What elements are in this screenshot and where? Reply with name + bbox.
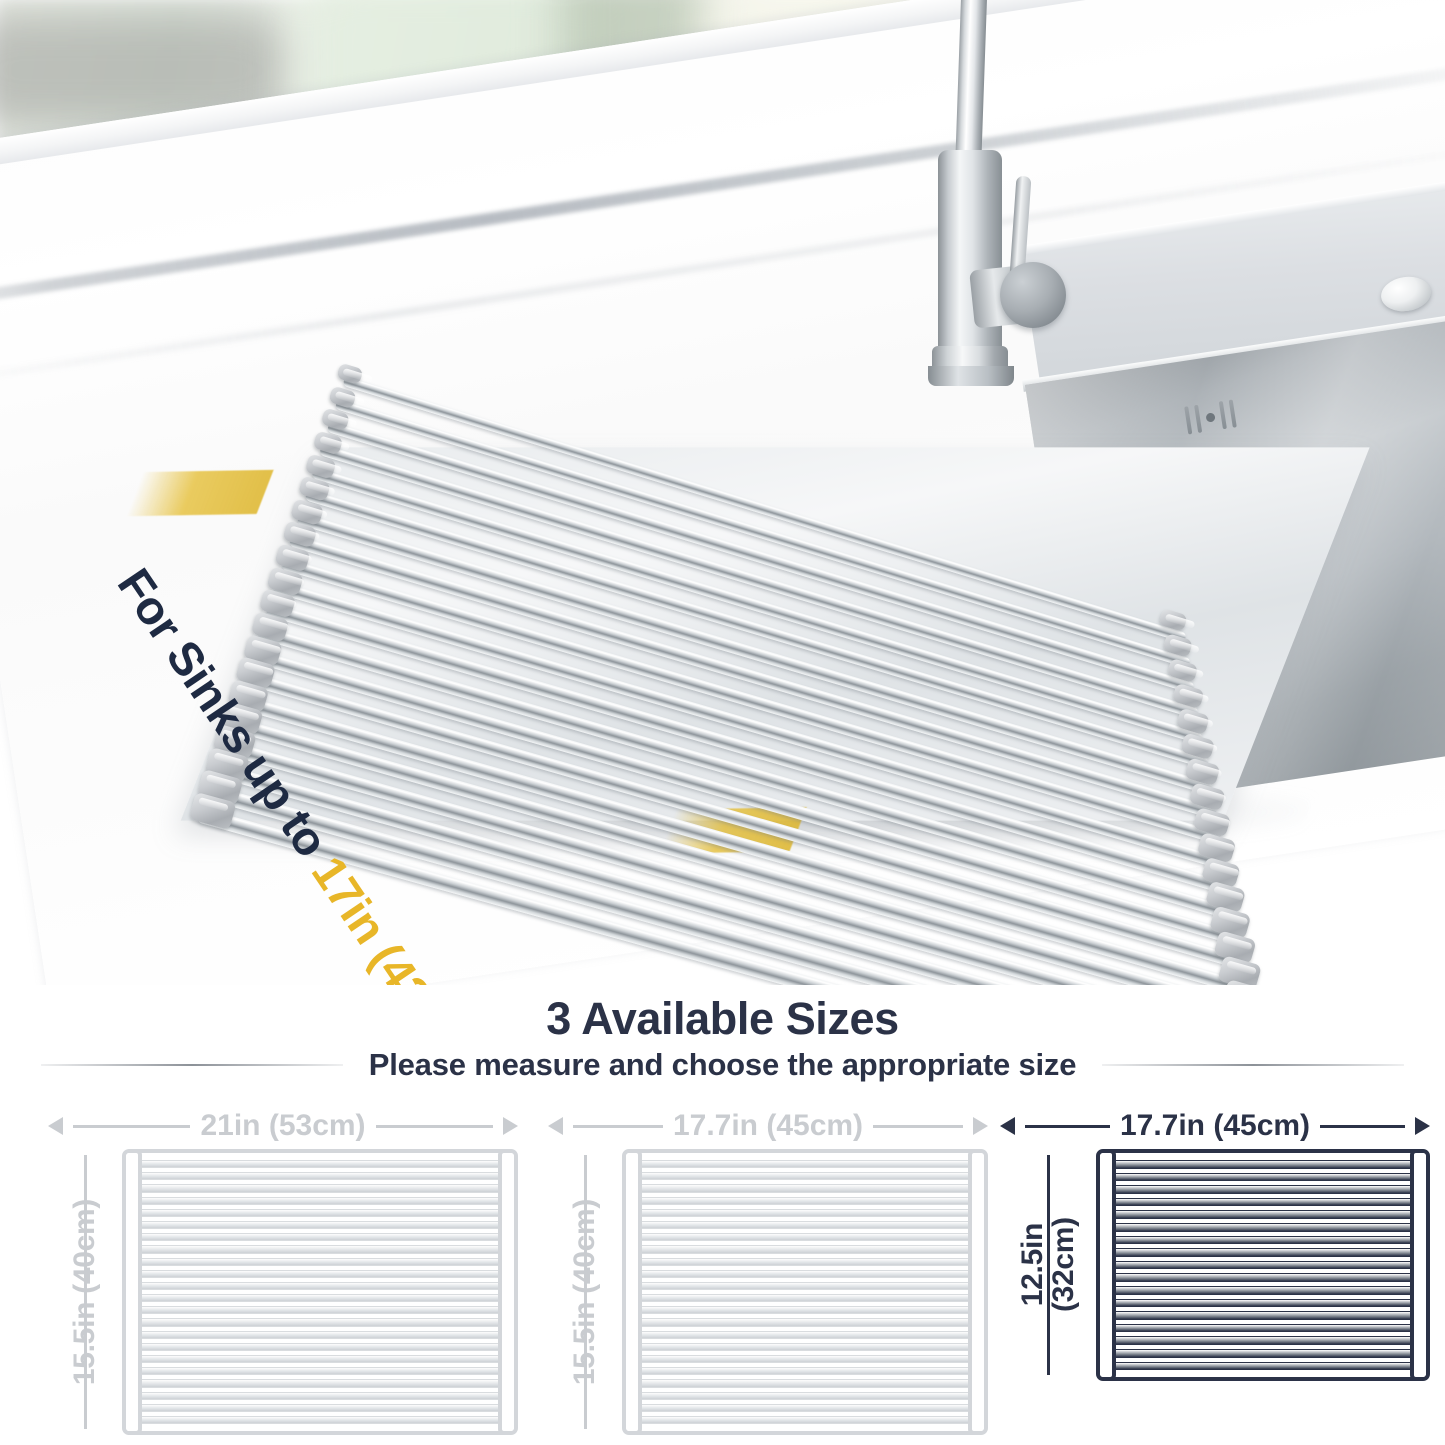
rack-bar bbox=[1110, 1261, 1416, 1270]
rack-bar bbox=[136, 1160, 504, 1168]
section-subtitle-row: Please measure and choose the appropriat… bbox=[0, 1047, 1445, 1083]
rack-bar bbox=[1110, 1236, 1416, 1245]
rack-bar bbox=[636, 1282, 974, 1290]
rack-bar bbox=[136, 1184, 504, 1192]
rack-bar bbox=[636, 1184, 974, 1192]
rack-bar bbox=[136, 1233, 504, 1241]
rack-bar bbox=[1110, 1173, 1416, 1182]
rack-bar bbox=[1110, 1299, 1416, 1308]
arrow-left-icon bbox=[1000, 1117, 1015, 1135]
height-dimension-2: 15.5in (40cm) bbox=[548, 1149, 622, 1435]
arrow-right-icon bbox=[973, 1117, 988, 1135]
height-label-3-inches: 12.5in bbox=[1017, 1223, 1048, 1306]
rack-bar bbox=[636, 1172, 974, 1180]
height-label-2: 15.5in (40cm) bbox=[568, 1199, 602, 1385]
height-label-1: 15.5in (40cm) bbox=[68, 1199, 102, 1385]
rack-bar bbox=[1110, 1160, 1416, 1169]
rack-bars bbox=[136, 1160, 504, 1424]
rack-bar bbox=[136, 1270, 504, 1278]
height-label-3-cm: (32cm) bbox=[1048, 1218, 1079, 1313]
rack-bar bbox=[1110, 1185, 1416, 1194]
rack-outline-2 bbox=[622, 1149, 988, 1435]
rack-bar bbox=[636, 1343, 974, 1351]
arrow-right-icon bbox=[1415, 1117, 1430, 1135]
roll-up-drying-rack bbox=[194, 347, 1359, 887]
rack-bar bbox=[136, 1416, 504, 1424]
rack-bar bbox=[136, 1367, 504, 1375]
rack-bar bbox=[636, 1294, 974, 1302]
rack-outline-1 bbox=[122, 1149, 518, 1435]
rack-outline-3 bbox=[1096, 1149, 1430, 1381]
rack-bar bbox=[636, 1233, 974, 1241]
rack-bar bbox=[136, 1392, 504, 1400]
product-photo-scene: For Sinks up to 17in (43cm) Wide bbox=[0, 0, 1445, 985]
rack-bar bbox=[636, 1318, 974, 1326]
rack-bar bbox=[636, 1379, 974, 1387]
rack-side-rail bbox=[122, 1149, 142, 1435]
rack-bar bbox=[1110, 1198, 1416, 1207]
rack-bar bbox=[1110, 1336, 1416, 1345]
rack-bar bbox=[136, 1209, 504, 1217]
rack-bar bbox=[1110, 1273, 1416, 1282]
rack-side-rail bbox=[1096, 1149, 1116, 1381]
arrow-right-icon bbox=[503, 1117, 518, 1135]
rack-bar bbox=[1110, 1210, 1416, 1219]
size-option-2[interactable]: 17.7in (45cm) 15.5in (40cm) bbox=[548, 1103, 988, 1435]
rack-bar bbox=[136, 1404, 504, 1412]
rack-bar bbox=[136, 1245, 504, 1253]
rack-bar bbox=[1110, 1311, 1416, 1320]
rack-bar bbox=[1110, 1223, 1416, 1232]
rack-side-rail bbox=[1410, 1149, 1430, 1381]
dimension-line bbox=[1025, 1125, 1110, 1128]
rack-diagram-1: 15.5in (40cm) bbox=[48, 1149, 518, 1435]
rack-bar bbox=[136, 1343, 504, 1351]
width-dimension-3: 17.7in (45cm) bbox=[1000, 1103, 1430, 1149]
section-title: 3 Available Sizes bbox=[0, 993, 1445, 1045]
divider-right bbox=[1102, 1064, 1404, 1066]
width-label-3: 17.7in (45cm) bbox=[1120, 1109, 1310, 1143]
rack-bar bbox=[136, 1306, 504, 1314]
rack-bar bbox=[636, 1209, 974, 1217]
dimension-line bbox=[573, 1125, 663, 1128]
faucet-knob bbox=[1000, 262, 1066, 328]
rack-bars bbox=[1110, 1160, 1416, 1370]
size-option-3-selected[interactable]: 17.7in (45cm) 12.5in (32cm) bbox=[1000, 1103, 1430, 1381]
width-dimension-1: 21in (53cm) bbox=[48, 1103, 518, 1149]
dimension-line bbox=[376, 1125, 493, 1128]
rack-bar bbox=[136, 1318, 504, 1326]
width-label-1: 21in (53cm) bbox=[200, 1109, 365, 1143]
rack-bar bbox=[136, 1172, 504, 1180]
rack-diagram-3: 12.5in (32cm) bbox=[1000, 1149, 1430, 1381]
rack-bars bbox=[636, 1160, 974, 1424]
rack-bar bbox=[1110, 1248, 1416, 1257]
rack-bar bbox=[636, 1331, 974, 1339]
rack-bar bbox=[136, 1221, 504, 1229]
rack-bar bbox=[136, 1258, 504, 1266]
rack-bar bbox=[636, 1416, 974, 1424]
dimension-line bbox=[873, 1125, 963, 1128]
available-sizes-section: 3 Available Sizes Please measure and cho… bbox=[0, 985, 1445, 1445]
divider-left bbox=[41, 1064, 343, 1066]
rack-bar bbox=[636, 1367, 974, 1375]
rack-bar bbox=[636, 1392, 974, 1400]
rack-rod-group bbox=[194, 347, 1359, 887]
rack-bar bbox=[136, 1331, 504, 1339]
width-label-2: 17.7in (45cm) bbox=[673, 1109, 863, 1143]
size-option-1[interactable]: 21in (53cm) 15.5in (40cm) bbox=[48, 1103, 518, 1435]
rack-bar bbox=[1110, 1349, 1416, 1358]
rack-bar bbox=[636, 1245, 974, 1253]
product-infographic: For Sinks up to 17in (43cm) Wide 3 Avail… bbox=[0, 0, 1445, 1445]
rack-bar bbox=[636, 1355, 974, 1363]
section-subtitle: Please measure and choose the appropriat… bbox=[369, 1047, 1077, 1083]
rack-bar bbox=[136, 1355, 504, 1363]
rack-bar bbox=[1110, 1362, 1416, 1371]
arrow-left-icon bbox=[48, 1117, 63, 1135]
rack-bar bbox=[136, 1379, 504, 1387]
rack-bar bbox=[636, 1404, 974, 1412]
rack-bar bbox=[136, 1294, 504, 1302]
rack-bar bbox=[636, 1306, 974, 1314]
rack-bar bbox=[136, 1282, 504, 1290]
rack-bar bbox=[636, 1197, 974, 1205]
rack-bar bbox=[636, 1160, 974, 1168]
rack-bar bbox=[136, 1197, 504, 1205]
rack-bar bbox=[636, 1258, 974, 1266]
rack-side-rail bbox=[968, 1149, 988, 1435]
silicone-connector bbox=[1218, 955, 1263, 985]
rack-bar bbox=[636, 1221, 974, 1229]
height-label-3: 12.5in (32cm) bbox=[1017, 1218, 1078, 1313]
arrow-left-icon bbox=[548, 1117, 563, 1135]
rack-bar bbox=[1110, 1286, 1416, 1295]
rack-bar bbox=[1110, 1324, 1416, 1333]
height-dimension-3: 12.5in (32cm) bbox=[1000, 1149, 1096, 1381]
rack-diagram-2: 15.5in (40cm) bbox=[548, 1149, 988, 1435]
size-diagram-row: 21in (53cm) 15.5in (40cm) bbox=[0, 1103, 1445, 1445]
width-dimension-2: 17.7in (45cm) bbox=[548, 1103, 988, 1149]
height-dimension-1: 15.5in (40cm) bbox=[48, 1149, 122, 1435]
dimension-line bbox=[73, 1125, 190, 1128]
rack-bar bbox=[636, 1270, 974, 1278]
rack-side-rail bbox=[498, 1149, 518, 1435]
rack-side-rail bbox=[622, 1149, 642, 1435]
dimension-line bbox=[1320, 1125, 1405, 1128]
